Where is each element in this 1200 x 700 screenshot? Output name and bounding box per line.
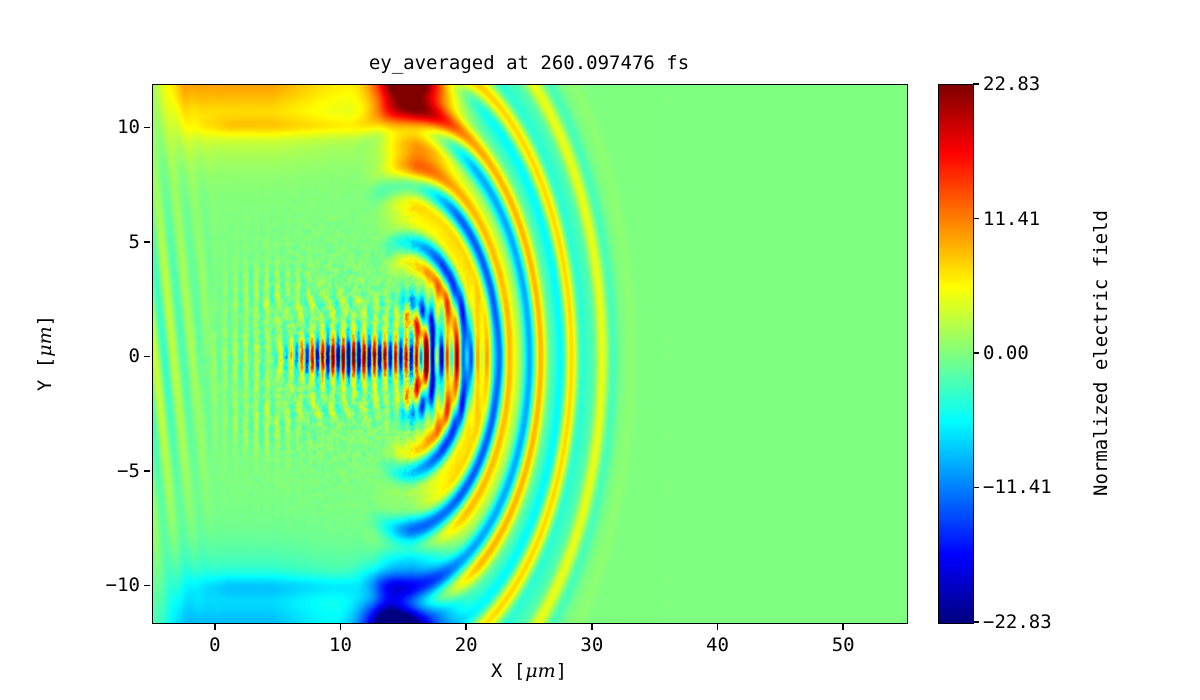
colorbar-label: Normalized electric field [1090, 210, 1112, 496]
heatmap-axes [152, 84, 908, 624]
y-tick-mark [144, 585, 150, 587]
y-axis-label-mu: μm [34, 326, 56, 356]
colorbar-tick-label: −22.83 [983, 611, 1052, 633]
x-axis-label-prefix: X [ [491, 660, 525, 682]
y-axis-label: Y [μm] [34, 315, 56, 391]
x-axis-label: X [μm] [152, 660, 906, 682]
x-tick-label: 40 [706, 634, 729, 656]
colorbar-tick-mark [973, 218, 979, 220]
y-tick-label: −5 [117, 460, 140, 482]
colorbar-tick-label: 0.00 [983, 342, 1029, 364]
colorbar-tick-label: −11.41 [983, 476, 1052, 498]
x-tick-mark [842, 624, 844, 630]
y-tick-mark [144, 127, 150, 129]
y-tick-mark [144, 356, 150, 358]
colorbar-tick-label: 22.83 [983, 73, 1040, 95]
field-heatmap-canvas [153, 85, 907, 623]
x-tick-label: 50 [832, 634, 855, 656]
y-tick-label: −10 [106, 574, 140, 596]
x-tick-mark [465, 624, 467, 630]
colorbar-tick-label: 11.41 [983, 208, 1040, 230]
x-tick-mark [214, 624, 216, 630]
colorbar-tick-mark [973, 487, 979, 489]
x-axis-label-mu: μm [525, 660, 555, 682]
x-tick-mark [717, 624, 719, 630]
colorbar-tick-mark [973, 83, 979, 85]
matplotlib-figure: ey_averaged at 260.097476 fs 01020304050… [0, 0, 1200, 700]
x-tick-label: 0 [209, 634, 220, 656]
x-tick-label: 10 [329, 634, 352, 656]
y-tick-mark [144, 241, 150, 243]
colorbar-tick-mark [973, 352, 979, 354]
y-tick-label: 10 [117, 116, 140, 138]
x-tick-mark [591, 624, 593, 630]
y-axis-label-prefix: Y [ [34, 357, 56, 391]
x-tick-label: 20 [455, 634, 478, 656]
y-axis-label-suffix: ] [34, 315, 56, 326]
y-tick-mark [144, 470, 150, 472]
y-tick-label: 5 [129, 231, 140, 253]
y-tick-label: 0 [129, 345, 140, 367]
x-axis-label-suffix: ] [556, 660, 567, 682]
x-tick-mark [340, 624, 342, 630]
plot-title: ey_averaged at 260.097476 fs [152, 52, 906, 74]
colorbar-tick-mark [973, 621, 979, 623]
x-tick-label: 30 [580, 634, 603, 656]
colorbar-gradient [939, 85, 973, 623]
colorbar [938, 84, 974, 624]
